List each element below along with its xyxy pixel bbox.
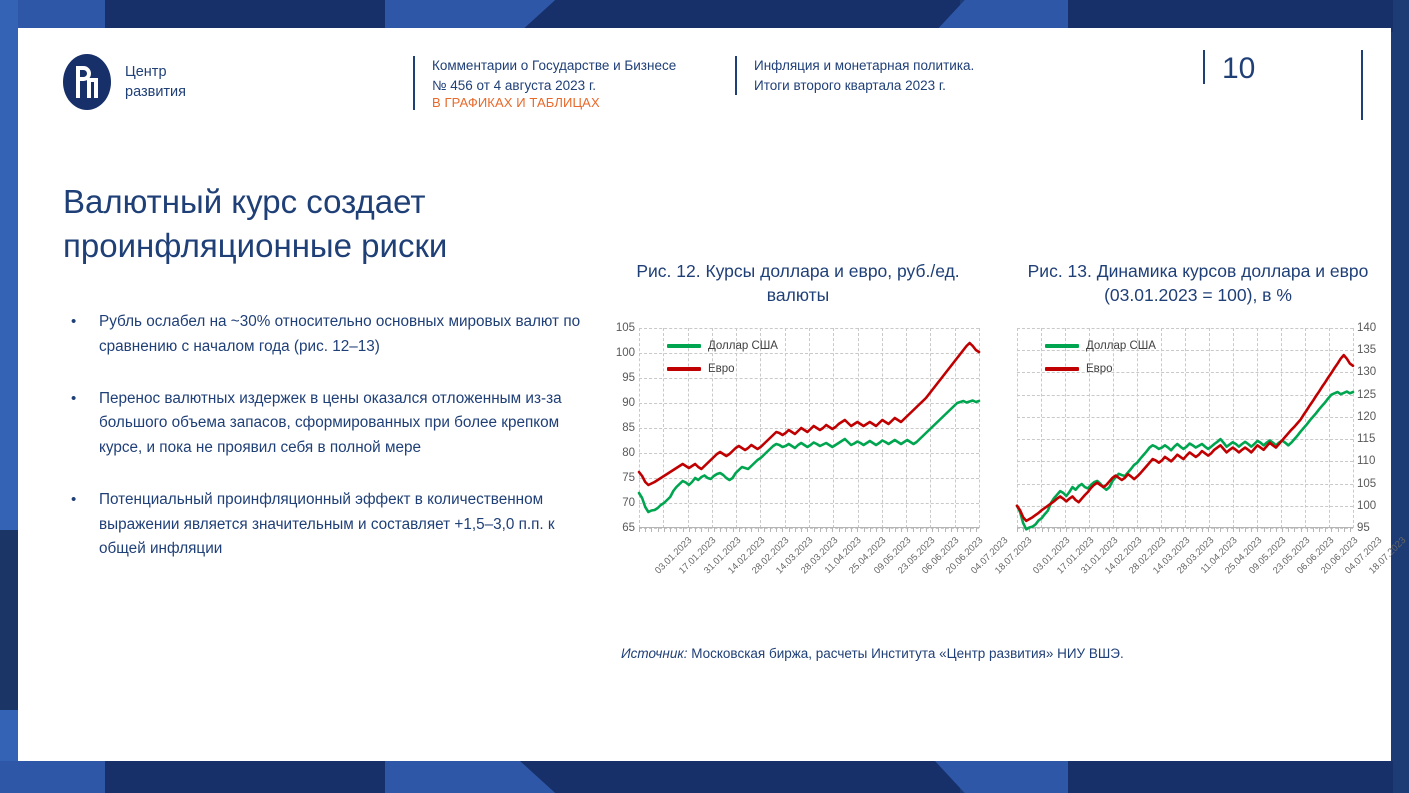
bullet-item: •Потенциальный проинфляционный эффект в … [63,488,593,562]
publication-title: Комментарии о Государстве и Бизнесе [432,56,676,76]
hse-logo-icon [63,54,111,110]
y-tick-label: 105 [616,322,635,334]
header-topic: Инфляция и монетарная политика. Итоги вт… [735,56,974,95]
source-text: Московская биржа, расчеты Института «Цен… [687,646,1123,661]
y-tick-label: 95 [622,372,635,384]
brand-name: Центр развития [125,62,186,102]
bg-bottom-band-6 [1068,761,1409,793]
y-tick-label: 135 [1357,344,1376,356]
bullet-text: Перенос валютных издержек в цены оказалс… [99,387,593,461]
figure-12-title: Рис. 12. Курсы доллара и евро, руб./ед. … [603,260,993,312]
bg-left-band-2 [0,530,18,710]
bullet-text: Потенциальный проинфляционный эффект в к… [99,488,593,562]
figure-12-plot: 65707580859095100105Доллар СШАЕвро03.01.… [603,328,993,550]
y-tick-label: 85 [622,422,635,434]
legend-label: Доллар США [708,340,778,352]
y-axis: 65707580859095100105 [603,328,639,528]
bullet-item: •Перенос валютных издержек в цены оказал… [63,387,593,461]
bg-left-band-1 [0,0,18,530]
legend-label: Евро [1086,363,1113,375]
brand-line-1: Центр [125,62,186,82]
bullet-marker-icon: • [63,488,99,562]
chart-legend: Доллар СШАЕвро [667,340,778,386]
legend-item[interactable]: Доллар США [667,340,778,352]
bg-bottom-band-4 [520,761,960,793]
legend-item[interactable]: Доллар США [1045,340,1156,352]
y-tick-label: 105 [1357,478,1376,490]
bg-right-band [1393,0,1409,793]
y-tick-label: 100 [616,347,635,359]
header-publication: Комментарии о Государстве и Бизнесе № 45… [413,56,676,110]
bullet-marker-icon: • [63,387,99,461]
y-tick-label: 100 [1357,500,1376,512]
publication-issue: № 456 от 4 августа 2023 г. [432,76,676,96]
header-page: 10 [1203,50,1255,84]
source-note: Источник: Московская биржа, расчеты Инст… [621,646,1124,661]
y-tick-label: 70 [622,497,635,509]
y-axis: 95100105110115120125130135140 [1353,328,1393,528]
slide-header: Центр развития Комментарии о Государстве… [63,54,1371,128]
publication-subtitle: В ГРАФИКАХ И ТАБЛИЦАХ [432,95,676,110]
x-axis: 03.01.202317.01.202331.01.202314.02.2023… [639,535,979,605]
slide-card: Центр развития Комментарии о Государстве… [18,28,1391,761]
legend-label: Доллар США [1086,340,1156,352]
bg-bottom-band-2 [105,761,385,793]
page-number: 10 [1222,50,1255,84]
figure-13: Рис. 13. Динамика курсов доллара и евро … [1003,260,1393,550]
y-tick-label: 90 [622,397,635,409]
legend-item[interactable]: Евро [667,363,778,375]
y-tick-label: 75 [622,472,635,484]
series-line-usd [1017,392,1353,530]
x-axis: 03.01.202317.01.202331.01.202314.02.2023… [1017,535,1353,605]
y-tick-label: 110 [1357,455,1375,467]
legend-swatch-icon [667,367,701,371]
brand-line-2: развития [125,82,186,102]
bullet-list: •Рубль ослабел на ~30% относительно осно… [63,310,593,589]
brand-logo: Центр развития [63,54,186,110]
legend-swatch-icon [667,344,701,348]
figure-13-plot: 95100105110115120125130135140Доллар СШАЕ… [1003,328,1393,550]
legend-swatch-icon [1045,344,1079,348]
y-tick-label: 115 [1357,433,1375,445]
series-line-usd [639,401,979,513]
legend-item[interactable]: Евро [1045,363,1156,375]
chart-legend: Доллар СШАЕвро [1045,340,1156,386]
topic-line-2: Итоги второго квартала 2023 г. [754,76,974,96]
y-tick-label: 65 [622,522,635,534]
source-label: Источник: [621,646,687,661]
legend-swatch-icon [1045,367,1079,371]
y-tick-label: 95 [1357,522,1370,534]
page-title: Валютный курс создает проинфляционные ри… [63,180,583,267]
y-tick-label: 120 [1357,411,1376,423]
y-tick-label: 80 [622,447,635,459]
figure-12: Рис. 12. Курсы доллара и евро, руб./ед. … [603,260,993,550]
y-tick-label: 125 [1357,389,1376,401]
bg-bottom-band-1 [0,761,105,793]
y-tick-label: 140 [1357,322,1376,334]
header-divider-right [1361,50,1380,120]
legend-label: Евро [708,363,735,375]
figure-13-title: Рис. 13. Динамика курсов доллара и евро … [1003,260,1393,312]
bullet-marker-icon: • [63,310,99,360]
bullet-text: Рубль ослабел на ~30% относительно основ… [99,310,593,360]
bullet-item: •Рубль ослабел на ~30% относительно осно… [63,310,593,360]
y-tick-label: 130 [1357,366,1376,378]
topic-line-1: Инфляция и монетарная политика. [754,56,974,76]
